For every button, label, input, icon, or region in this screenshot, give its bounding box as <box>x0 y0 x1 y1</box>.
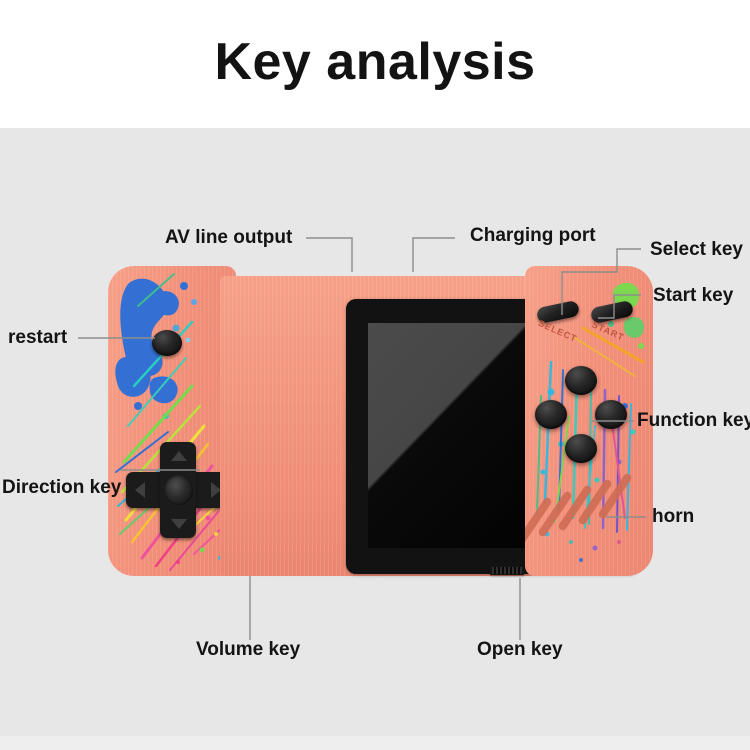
annotation-select-key: Select key <box>650 240 743 259</box>
page-title: Key analysis <box>0 36 750 88</box>
annotation-volume-key: Volume key <box>196 640 300 659</box>
annotation-charging-port: Charging port <box>470 226 596 245</box>
function-key-button-right[interactable] <box>595 400 627 429</box>
annotation-horn: horn <box>652 507 694 526</box>
console-right-grip: SELECT START <box>525 266 653 576</box>
function-key-button-down[interactable] <box>565 434 597 463</box>
console-left-grip <box>108 266 236 576</box>
annotation-start-key: Start key <box>653 286 733 305</box>
dpad-left-arrow-icon <box>135 482 145 498</box>
annotation-restart: restart <box>8 328 67 347</box>
console-center-slab <box>220 276 541 576</box>
annotation-direction-key: Direction key <box>2 478 121 497</box>
handheld-console: SELECT START <box>108 266 653 576</box>
dpad-down-arrow-icon <box>171 519 187 529</box>
annotation-function-key: Function key <box>637 411 750 430</box>
restart-button[interactable] <box>152 330 182 356</box>
direction-key-dpad[interactable] <box>126 442 230 538</box>
dpad-up-arrow-icon <box>171 451 187 461</box>
key-analysis-diagram: Key analysis <box>0 0 750 750</box>
function-key-button-left[interactable] <box>535 400 567 429</box>
open-key-switch[interactable] <box>490 566 524 575</box>
function-key-button-up[interactable] <box>565 366 597 395</box>
backdrop-footer-strip <box>0 736 750 750</box>
annotation-open-key: Open key <box>477 640 563 659</box>
dpad-center-pivot <box>164 475 193 505</box>
annotation-av-line-output: AV line output <box>165 228 292 247</box>
